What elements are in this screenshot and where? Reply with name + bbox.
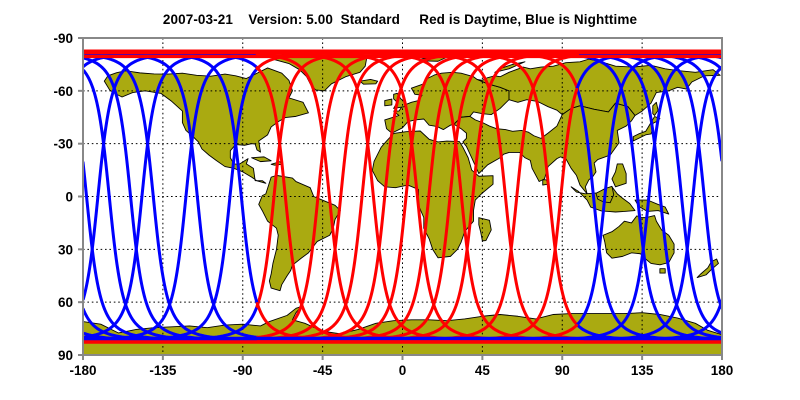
x-tick-label: 180 [711,363,734,378]
y-tick-label: 0 [65,190,73,205]
x-tick-label: 0 [399,363,407,378]
y-tick-label: 30 [58,242,73,257]
x-tick-label: -135 [149,363,177,378]
x-tick-label: -45 [313,363,333,378]
ground-track-chart: -180-135-90-45045901351809060300-30-60-9… [0,0,800,400]
x-tick-label: 135 [631,363,654,378]
x-tick-label: -90 [233,363,253,378]
y-tick-label: -60 [53,84,73,99]
y-tick-label: -30 [53,137,73,152]
y-tick-label: 60 [58,295,73,310]
x-tick-label: 90 [555,363,570,378]
landmass-ireland [385,99,392,106]
x-tick-label: 45 [475,363,491,378]
plot-area: -180-135-90-45045901351809060300-30-60-9… [0,0,800,400]
y-tick-label: -90 [53,31,73,46]
landmass-tasmania [660,269,665,273]
x-tick-label: -180 [69,363,96,378]
screenshot-root: 2007-03-21 Version: 5.00 Standard Red is… [0,0,800,400]
y-tick-label: 90 [58,348,73,363]
